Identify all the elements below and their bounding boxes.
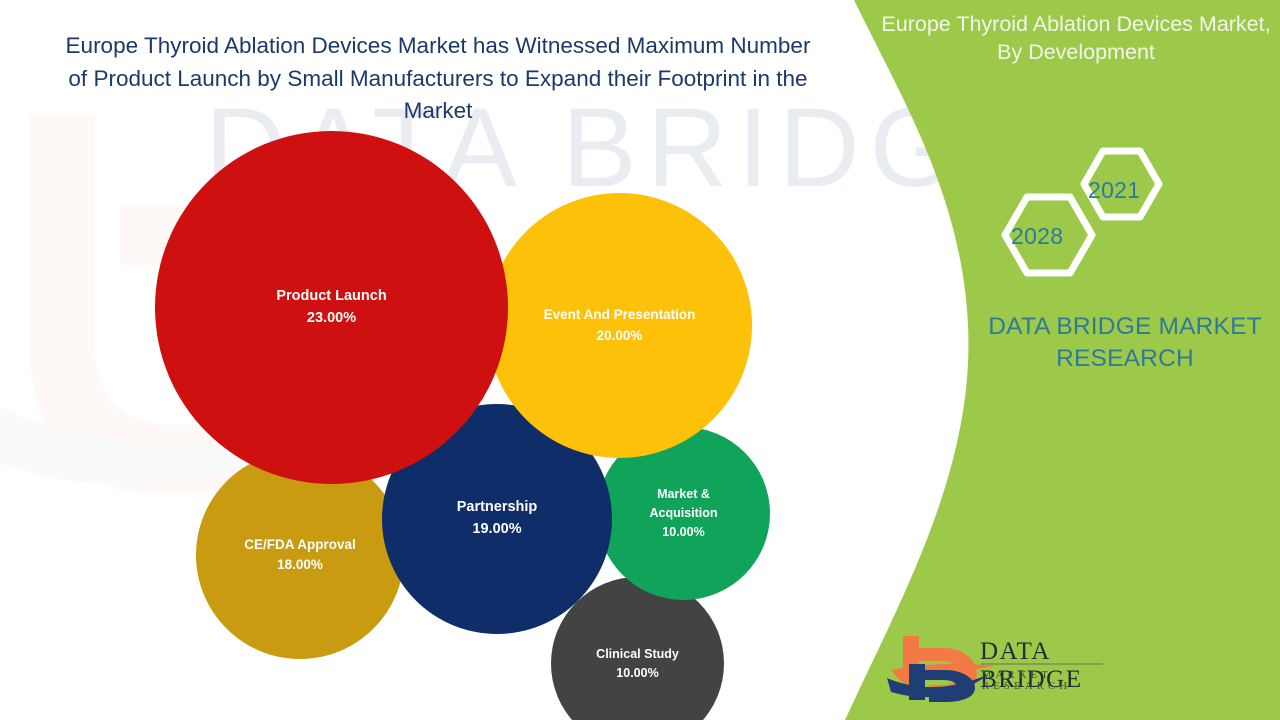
hexagon-2021-label: 2021	[1088, 177, 1140, 204]
bubble-value: 19.00%	[472, 519, 521, 541]
bubble-value: 23.00%	[307, 308, 356, 330]
bubble-value: 10.00%	[662, 523, 704, 542]
infographic-canvas: DATA BRIDGE RESEARCH Europe Thyroid Abla…	[0, 0, 1280, 720]
bubble-value: 10.00%	[616, 664, 658, 683]
data-bridge-logo: DATA BRIDGE MARKET RESEARCH	[885, 630, 1110, 702]
main-title: Europe Thyroid Ablation Devices Market h…	[62, 30, 814, 128]
bubble-event-and-presentation[interactable]: Event And Presentation 20.00%	[487, 193, 752, 458]
logo-secondary-text: MARKET RESEARCH	[982, 670, 1110, 692]
hexagon-outlines-icon	[985, 145, 1185, 290]
bubble-label: CE/FDA Approval	[244, 535, 356, 555]
bubble-label: Market & Acquisition	[630, 485, 737, 523]
bubble-label: Clinical Study	[596, 645, 679, 664]
hexagon-2028-label: 2028	[1011, 223, 1063, 250]
bubble-label: Event And Presentation	[544, 305, 696, 325]
hexagon-group: 2021 2028	[985, 145, 1185, 290]
bubble-value: 20.00%	[597, 326, 643, 346]
bubble-ce-fda-approval[interactable]: CE/FDA Approval 18.00%	[196, 451, 404, 659]
bubble-product-launch[interactable]: Product Launch 23.00%	[155, 131, 508, 484]
brand-name-text: DATA BRIDGE MARKET RESEARCH	[960, 311, 1280, 376]
bubble-value: 18.00%	[277, 555, 323, 575]
bubble-label: Product Launch	[276, 286, 386, 308]
bubble-label: Partnership	[457, 497, 538, 519]
panel-title: Europe Thyroid Ablation Devices Market, …	[880, 10, 1272, 67]
